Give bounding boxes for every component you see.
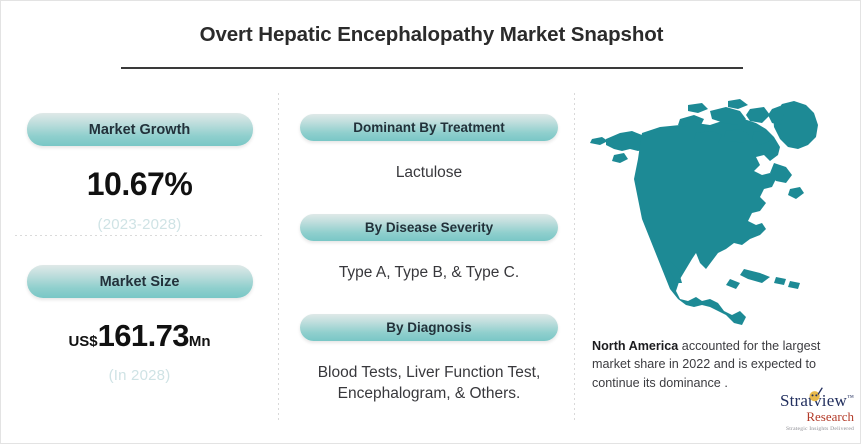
logo-mark-icon bbox=[807, 386, 824, 403]
title-divider bbox=[121, 67, 743, 69]
segment-severity: By Disease Severity Type A, Type B, & Ty… bbox=[284, 214, 574, 284]
segment-treatment-pill-label: Dominant By Treatment bbox=[353, 120, 505, 135]
market-growth-block: Market Growth 10.67% (2023-2028) bbox=[1, 113, 278, 233]
content-columns: Market Growth 10.67% (2023-2028) Market … bbox=[1, 87, 861, 444]
middle-column: Dominant By Treatment Lactulose By Disea… bbox=[284, 87, 574, 444]
segment-severity-pill-label: By Disease Severity bbox=[365, 220, 493, 235]
region-note: North America accounted for the largest … bbox=[592, 337, 850, 392]
market-size-unit: Mn bbox=[189, 333, 211, 350]
market-size-number: 161.73 bbox=[98, 318, 189, 353]
segment-treatment-value: Lactulose bbox=[284, 163, 574, 184]
logo-trademark: ™ bbox=[847, 393, 854, 401]
market-growth-pill-label: Market Growth bbox=[89, 122, 191, 138]
segment-diagnosis-value-line1: Blood Tests, Liver Function Test, bbox=[318, 364, 541, 381]
segment-treatment: Dominant By Treatment Lactulose bbox=[284, 114, 574, 184]
left-column-divider bbox=[15, 235, 265, 236]
market-size-period: (In 2028) bbox=[1, 367, 278, 384]
market-size-pill-label: Market Size bbox=[100, 274, 180, 290]
logo-sub: Research bbox=[736, 410, 854, 424]
stratview-research-logo[interactable]: Stratview™ Research Strategic Insights D… bbox=[736, 392, 854, 432]
market-size-block: Market Size US$161.73Mn (In 2028) bbox=[1, 265, 278, 384]
market-growth-period: (2023-2028) bbox=[1, 216, 278, 233]
segment-severity-value: Type A, Type B, & Type C. bbox=[284, 263, 574, 284]
page-title: Overt Hepatic Encephalopathy Market Snap… bbox=[1, 23, 861, 48]
segment-severity-pill[interactable]: By Disease Severity bbox=[300, 214, 558, 241]
market-size-value: US$161.73Mn bbox=[1, 320, 278, 351]
segment-diagnosis-value-line2: Encephalogram, & Others. bbox=[338, 385, 521, 402]
north-america-map bbox=[584, 93, 860, 329]
segment-diagnosis-pill-label: By Diagnosis bbox=[386, 320, 472, 335]
region-note-emphasis: North America bbox=[592, 339, 678, 353]
market-size-pill[interactable]: Market Size bbox=[27, 265, 253, 298]
column-divider-right bbox=[574, 93, 575, 423]
column-divider-left bbox=[278, 93, 279, 423]
right-column: North America accounted for the largest … bbox=[580, 87, 861, 444]
market-size-currency: US$ bbox=[68, 333, 97, 350]
market-growth-value: 10.67% bbox=[1, 168, 278, 200]
left-column: Market Growth 10.67% (2023-2028) Market … bbox=[1, 87, 278, 444]
segment-treatment-pill[interactable]: Dominant By Treatment bbox=[300, 114, 558, 141]
page-title-wrap: Overt Hepatic Encephalopathy Market Snap… bbox=[1, 23, 861, 48]
market-snapshot-infographic: Overt Hepatic Encephalopathy Market Snap… bbox=[0, 0, 861, 444]
segment-diagnosis: By Diagnosis Blood Tests, Liver Function… bbox=[284, 314, 574, 405]
logo-tagline: Strategic Insights Delivered bbox=[736, 426, 854, 432]
segment-diagnosis-value: Blood Tests, Liver Function Test, Enceph… bbox=[284, 363, 574, 405]
logo-name: Stratview™ bbox=[736, 392, 854, 409]
market-growth-pill[interactable]: Market Growth bbox=[27, 113, 253, 146]
segment-diagnosis-pill[interactable]: By Diagnosis bbox=[300, 314, 558, 341]
